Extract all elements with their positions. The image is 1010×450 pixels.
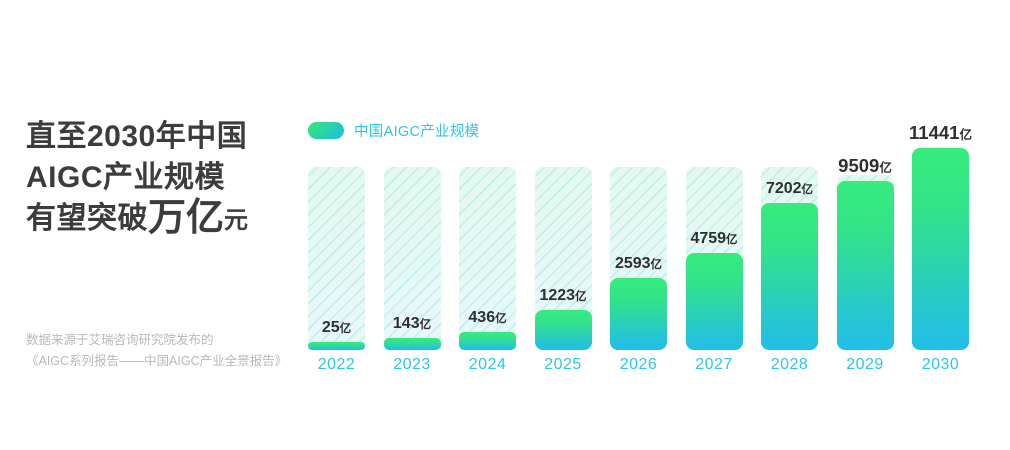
bar-value-label: 4759亿 [672, 231, 757, 248]
bar-column[interactable]: 4759亿2027 [686, 167, 743, 350]
bar-value-number: 143 [393, 315, 420, 332]
x-axis-label: 2030 [902, 356, 979, 374]
x-axis-label: 2023 [374, 356, 451, 374]
bar-value-label: 7202亿 [747, 181, 832, 198]
source-note: 数据来源于艾瑞咨询研究院发布的 《AIGC系列报告——中国AIGC产业全景报告》 [26, 330, 326, 372]
bar-fill [686, 253, 743, 350]
x-axis-label: 2022 [298, 356, 375, 374]
bar-fill [308, 342, 365, 350]
bar-column[interactable]: 7202亿2028 [761, 167, 818, 350]
source-line-1: 数据来源于艾瑞咨询研究院发布的 [26, 330, 326, 351]
bar-value-number: 436 [468, 309, 495, 326]
legend-swatch-icon [308, 122, 344, 139]
bar-value-unit: 亿 [651, 259, 663, 271]
bar-column[interactable]: 143亿2023 [384, 167, 441, 350]
x-axis-label: 2029 [827, 356, 904, 374]
bar-value-unit: 亿 [340, 323, 352, 335]
bar-fill [610, 278, 667, 350]
x-axis-label: 2024 [449, 356, 526, 374]
bar-value-unit: 亿 [575, 291, 587, 303]
bar-column[interactable]: 436亿2024 [459, 167, 516, 350]
bar-value-number: 25 [322, 319, 340, 336]
headline-line-3-prefix: 有望突破 [26, 202, 148, 235]
bar-fill [761, 203, 818, 350]
bar-value-label: 436亿 [445, 310, 530, 327]
bar-value-label: 25亿 [294, 320, 379, 337]
legend-label: 中国AIGC产业规模 [354, 120, 479, 141]
bar-chart-plot: 25亿2022143亿2023436亿20241223亿20252593亿202… [308, 167, 980, 350]
bar-fill [384, 338, 441, 350]
bar-value-number: 7202 [766, 180, 802, 197]
headline-line-2: AIGC产业规模 [26, 157, 306, 198]
x-axis-label: 2028 [751, 356, 828, 374]
bar-column[interactable]: 2593亿2026 [610, 167, 667, 350]
x-axis-label: 2027 [676, 356, 753, 374]
bar-value-label: 9509亿 [823, 158, 908, 176]
bar-value-number: 4759 [690, 230, 726, 247]
source-line-2: 《AIGC系列报告——中国AIGC产业全景报告》 [26, 351, 326, 372]
bar-fill [459, 332, 516, 350]
bar-column[interactable]: 25亿2022 [308, 167, 365, 350]
x-axis-label: 2025 [525, 356, 602, 374]
bar-column[interactable]: 11441亿2030 [912, 167, 969, 350]
bar-value-label: 11441亿 [898, 125, 983, 143]
infographic-canvas: 直至2030年中国 AIGC产业规模 有望突破万亿元 数据来源于艾瑞咨询研究院发… [0, 0, 1010, 450]
bar-column[interactable]: 9509亿2029 [837, 167, 894, 350]
bar-value-number: 1223 [539, 287, 575, 304]
page-title: 直至2030年中国 AIGC产业规模 有望突破万亿元 [26, 116, 306, 241]
bar-value-number: 9509 [838, 155, 879, 176]
bar-value-unit: 亿 [420, 319, 432, 331]
headline-line-3: 有望突破万亿元 [26, 198, 306, 241]
x-axis-label: 2026 [600, 356, 677, 374]
bar-fill [535, 310, 592, 350]
bar-value-label: 2593亿 [596, 256, 681, 273]
headline-line-3-suffix: 元 [224, 207, 249, 234]
bar-column[interactable]: 1223亿2025 [535, 167, 592, 350]
bar-value-number: 11441 [909, 122, 959, 143]
chart-legend: 中国AIGC产业规模 [308, 120, 479, 141]
bar-fill [912, 148, 969, 350]
bar-value-number: 2593 [615, 255, 651, 272]
headline-line-1: 直至2030年中国 [26, 116, 306, 157]
bar-value-unit: 亿 [726, 234, 738, 246]
bar-value-label: 143亿 [370, 316, 455, 333]
bar-value-label: 1223亿 [521, 288, 606, 305]
bar-value-unit: 亿 [959, 128, 972, 142]
bar-value-unit: 亿 [802, 184, 814, 196]
headline-emphasis: 万亿 [148, 197, 224, 239]
bar-fill [837, 181, 894, 350]
bar-value-unit: 亿 [879, 161, 892, 175]
bar-value-unit: 亿 [495, 313, 507, 325]
